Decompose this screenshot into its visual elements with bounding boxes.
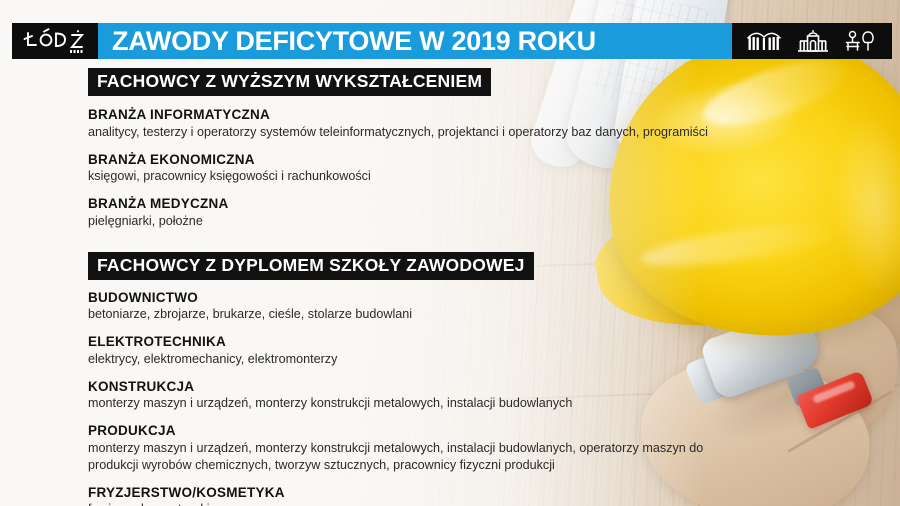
category-economics: BRANŻA EKONOMICZNA księgowi, pracownicy … (88, 152, 708, 186)
category-title: BUDOWNICTWO (88, 290, 708, 306)
category-it: BRANŻA INFORMATYCZNA analitycy, testerzy… (88, 107, 708, 141)
infographic-poster: ZAWODY DEFICYTOWE W 2019 ROKU (0, 0, 900, 506)
category-description: pielęgniarki, położne (88, 213, 708, 230)
park-bench-tree-icon[interactable] (844, 28, 878, 54)
lodz-city-logo[interactable] (12, 23, 98, 59)
category-description: betoniarze, zbrojarze, brukarze, cieśle,… (88, 306, 708, 323)
category-description: fryzjerzy, kosmetyczki (88, 501, 708, 506)
palace-gate-icon[interactable] (796, 28, 830, 54)
header-icon-group (732, 23, 892, 59)
category-electrotechnics: ELEKTROTECHNIKA elektrycy, elektromechan… (88, 334, 708, 368)
page-title: ZAWODY DEFICYTOWE W 2019 ROKU (112, 26, 596, 57)
section-banner: FACHOWCY Z DYPLOMEM SZKOŁY ZAWODOWEJ (88, 252, 534, 280)
header-bar: ZAWODY DEFICYTOWE W 2019 ROKU (12, 23, 892, 59)
category-description: elektrycy, elektromechanicy, elektromont… (88, 351, 708, 368)
section-higher-education: FACHOWCY Z WYŻSZYM WYKSZTAŁCENIEM BRANŻA… (88, 68, 708, 230)
category-title: ELEKTROTECHNIKA (88, 334, 708, 350)
section-banner: FACHOWCY Z WYŻSZYM WYKSZTAŁCENIEM (88, 68, 491, 96)
section-vocational-diploma: FACHOWCY Z DYPLOMEM SZKOŁY ZAWODOWEJ BUD… (88, 230, 708, 506)
category-title: BRANŻA MEDYCZNA (88, 196, 708, 212)
category-hairdressing-cosmetics: FRYZJERSTWO/KOSMETYKA fryzjerzy, kosmety… (88, 485, 708, 506)
colonnade-icon[interactable] (746, 29, 782, 53)
category-title: PRODUKCJA (88, 423, 708, 439)
category-title: BRANŻA EKONOMICZNA (88, 152, 708, 168)
content-column: FACHOWCY Z WYŻSZYM WYKSZTAŁCENIEM BRANŻA… (88, 68, 708, 506)
category-structures: KONSTRUKCJA monterzy maszyn i urządzeń, … (88, 379, 708, 413)
category-description: analitycy, testerzy i operatorzy systemó… (88, 124, 708, 141)
category-description: księgowi, pracownicy księgowości i rachu… (88, 168, 708, 185)
category-title: FRYZJERSTWO/KOSMETYKA (88, 485, 708, 501)
category-title: KONSTRUKCJA (88, 379, 708, 395)
category-construction: BUDOWNICTWO betoniarze, zbrojarze, bruka… (88, 290, 708, 324)
category-description: monterzy maszyn i urządzeń, monterzy kon… (88, 440, 708, 474)
category-medical: BRANŻA MEDYCZNA pielęgniarki, położne (88, 196, 708, 230)
header-title-bar: ZAWODY DEFICYTOWE W 2019 ROKU (98, 23, 732, 59)
category-description: monterzy maszyn i urządzeń, monterzy kon… (88, 395, 708, 412)
category-production: PRODUKCJA monterzy maszyn i urządzeń, mo… (88, 423, 708, 474)
category-title: BRANŻA INFORMATYCZNA (88, 107, 708, 123)
